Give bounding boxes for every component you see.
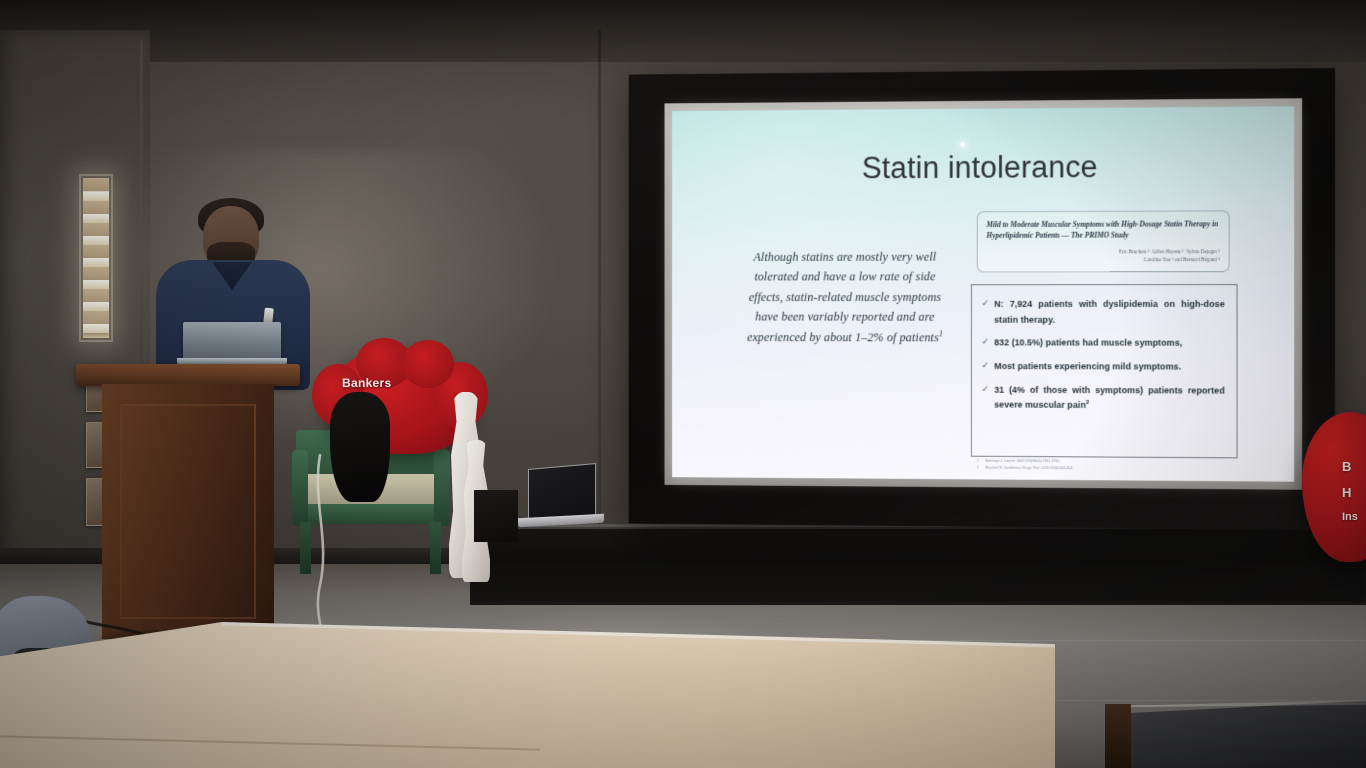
- list-item: ✓ N: 7,924 patients with dyslipidemia on…: [982, 297, 1225, 328]
- podium-top: [76, 364, 300, 386]
- slide-quote-superscript: 1: [939, 329, 943, 338]
- list-item-body: N: 7,924 patients with dyslipidemia on h…: [994, 299, 1224, 324]
- bench-armrest: [292, 450, 308, 526]
- list-item-text: Most patients experiencing mild symptoms…: [994, 359, 1224, 375]
- citation-authors-line-2: Caroline Yau ³ and Bernard Bégaud ⁴: [986, 257, 1219, 265]
- reference-line: 2 Bruckert E. Cardiovasc Drugs Ther. 200…: [977, 464, 1222, 472]
- lecture-room-photo: Statin intolerance Although statins are …: [0, 0, 1366, 768]
- slide-references: 1 Armitage J. Lancet. 2007;370(9601):178…: [977, 458, 1222, 472]
- check-icon: ✓: [982, 382, 995, 395]
- balloon-line-2: H: [1342, 480, 1358, 506]
- check-icon: ✓: [982, 297, 995, 310]
- list-item-text: 31 (4% of those with symptoms) patients …: [994, 383, 1224, 415]
- slide-title: Statin intolerance: [672, 148, 1294, 187]
- bench-armrest: [434, 450, 450, 526]
- projector-screen: Statin intolerance Although statins are …: [629, 68, 1335, 530]
- citation-authors: Eric Bruckert ¹· Gilles Hayem ²· Sylvie …: [986, 249, 1219, 265]
- list-item-text: 832 (10.5%) patients had muscle symptoms…: [994, 336, 1224, 352]
- office-chair-armrest: [1105, 704, 1131, 768]
- presenter-laptop: [183, 322, 281, 360]
- window-frame: [79, 174, 113, 342]
- stage-counter: [470, 527, 1366, 605]
- citation-box: Mild to Moderate Muscular Symptoms with …: [977, 210, 1230, 272]
- ceiling-band: [0, 0, 1366, 62]
- check-icon: ✓: [982, 359, 995, 372]
- bench-leg: [430, 522, 441, 574]
- projector-hotspot: [961, 142, 966, 147]
- balloon-line-1: B: [1342, 454, 1358, 480]
- list-item-sup: 2: [1086, 400, 1089, 406]
- balloon-text: B H Ins: [1342, 454, 1358, 528]
- bench-leg: [300, 522, 311, 574]
- slide-quote-body: Although statins are mostly very well to…: [747, 250, 941, 344]
- list-item-body: 31 (4% of those with symptoms) patients …: [994, 384, 1224, 410]
- bench-apron: [294, 504, 448, 524]
- list-item-text: N: 7,924 patients with dyslipidemia on h…: [994, 297, 1224, 328]
- reference-number: 2: [977, 464, 986, 470]
- bullet-list-box: ✓ N: 7,924 patients with dyslipidemia on…: [971, 284, 1238, 458]
- podium-front-panel: [120, 404, 256, 619]
- list-item: ✓ 832 (10.5%) patients had muscle sympto…: [982, 336, 1225, 352]
- citation-title: Mild to Moderate Muscular Symptoms with …: [986, 218, 1219, 240]
- list-item-body: 832 (10.5%) patients had muscle symptoms…: [994, 338, 1182, 348]
- reference-text: Bruckert E. Cardiovasc Drugs Ther. 2005;…: [986, 464, 1074, 471]
- balloon-line-3: Ins: [1342, 506, 1358, 528]
- draped-jacket: [330, 392, 390, 502]
- list-item: ✓ 31 (4% of those with symptoms) patient…: [982, 382, 1225, 414]
- list-item-body: Most patients experiencing mild symptoms…: [994, 361, 1181, 371]
- wall-seam-right: [598, 30, 601, 590]
- screen-inner-border: Statin intolerance Although statins are …: [665, 98, 1303, 489]
- dark-equipment-box: [474, 490, 518, 542]
- list-item: ✓ Most patients experiencing mild sympto…: [982, 359, 1225, 375]
- counter-laptop-screen: [528, 463, 596, 521]
- check-icon: ✓: [982, 336, 995, 349]
- presentation-slide: Statin intolerance Although statins are …: [672, 106, 1294, 481]
- slide-quote-text: Although statins are mostly very well to…: [737, 247, 954, 347]
- citation-authors-line-1: Eric Bruckert ¹· Gilles Hayem ²· Sylvie …: [986, 249, 1219, 257]
- conference-table: [0, 622, 1055, 768]
